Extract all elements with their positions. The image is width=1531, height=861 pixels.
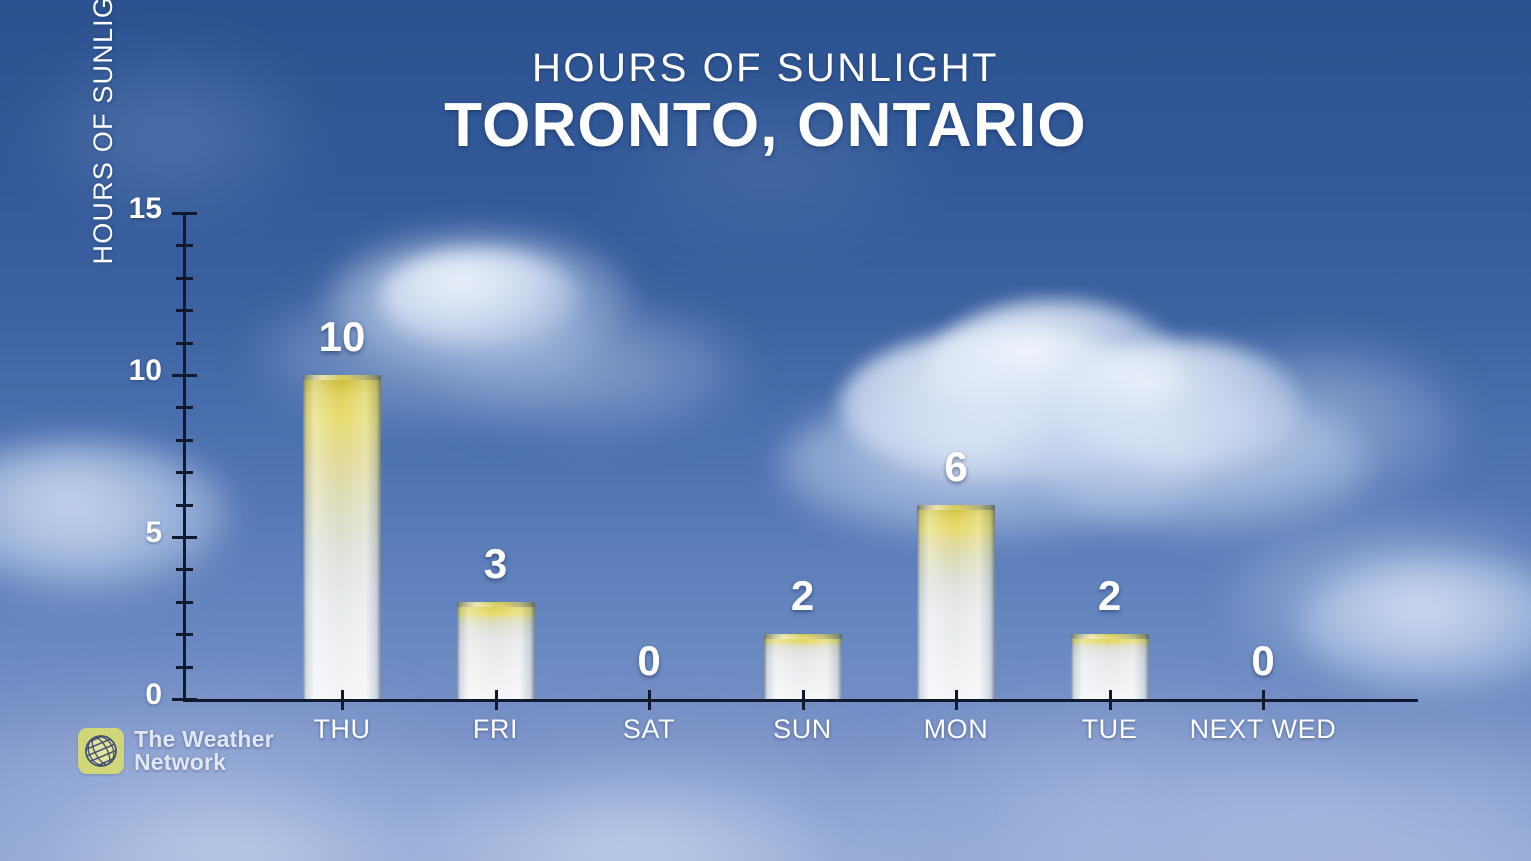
y-tick-1 <box>176 666 193 669</box>
bar-value-tue: 2 <box>1030 572 1190 620</box>
bar-value-sun: 2 <box>723 572 883 620</box>
bar-thu <box>303 375 381 699</box>
weather-graphic: HOURS OF SUNLIGHT TORONTO, ONTARIO HOURS… <box>0 0 1531 861</box>
y-tick-9 <box>176 406 193 409</box>
x-tick-thu <box>341 690 344 710</box>
y-tick-11 <box>176 342 193 345</box>
logo-text: The Weather Network <box>134 728 274 773</box>
y-tick-10 <box>172 374 197 377</box>
y-tick-label-0: 0 <box>110 678 162 712</box>
weather-network-logo: The Weather Network <box>78 728 274 774</box>
x-tick-sat <box>648 690 651 710</box>
logo-line-2: Network <box>134 751 274 774</box>
x-axis-line <box>183 699 1418 702</box>
x-tick-label-next-wed: NEXT WED <box>1153 714 1373 745</box>
y-tick-0 <box>172 698 197 701</box>
y-tick-label-15: 15 <box>110 192 162 226</box>
chart-subtitle: HOURS OF SUNLIGHT <box>0 48 1531 88</box>
y-tick-3 <box>176 601 193 604</box>
bar-value-mon: 6 <box>876 443 1036 491</box>
y-tick-8 <box>176 439 193 442</box>
bar-cap-fri <box>457 602 535 607</box>
y-tick-12 <box>176 309 193 312</box>
y-tick-7 <box>176 471 193 474</box>
y-tick-13 <box>176 277 193 280</box>
y-tick-6 <box>176 504 193 507</box>
y-tick-4 <box>176 568 193 571</box>
bar-mon <box>917 505 995 699</box>
bar-value-thu: 10 <box>262 313 422 361</box>
bar-value-next-wed: 0 <box>1183 637 1343 685</box>
y-tick-15 <box>172 212 197 215</box>
bar-fri <box>457 602 535 699</box>
bar-cap-mon <box>917 505 995 510</box>
y-tick-label-5: 5 <box>110 516 162 550</box>
y-tick-label-10: 10 <box>110 354 162 388</box>
x-tick-fri <box>495 690 498 710</box>
bar-cap-tue <box>1071 634 1149 639</box>
y-axis-line <box>183 213 186 701</box>
x-tick-next-wed <box>1262 690 1265 710</box>
page-title: TORONTO, ONTARIO <box>0 94 1531 158</box>
y-tick-14 <box>176 244 193 247</box>
x-tick-mon <box>955 690 958 710</box>
bar-cap-sun <box>764 634 842 639</box>
bar-value-sat: 0 <box>569 637 729 685</box>
weather-network-globe-icon <box>78 728 124 774</box>
logo-line-1: The Weather <box>134 728 274 751</box>
x-tick-tue <box>1109 690 1112 710</box>
x-tick-sun <box>802 690 805 710</box>
bar-value-fri: 3 <box>416 540 576 588</box>
y-tick-2 <box>176 633 193 636</box>
title-block: HOURS OF SUNLIGHT TORONTO, ONTARIO <box>0 48 1531 158</box>
y-tick-5 <box>172 536 197 539</box>
bar-cap-thu <box>303 375 381 380</box>
